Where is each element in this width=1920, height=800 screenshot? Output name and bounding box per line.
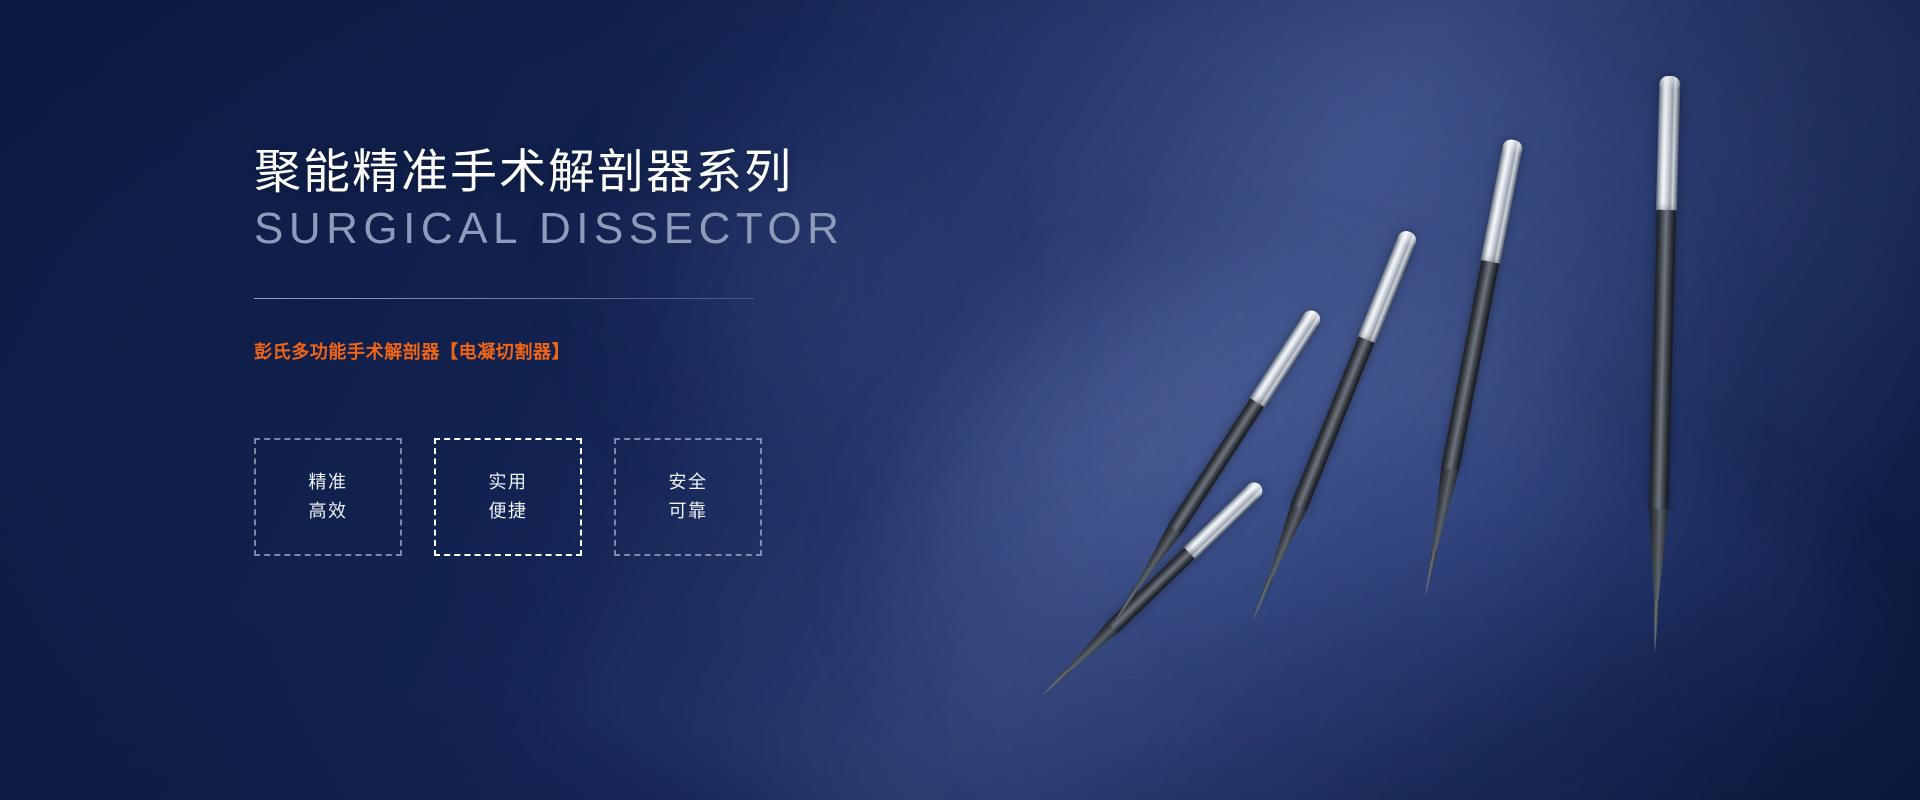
product-name-label: 彭氏多功能手术解剖器【电凝切割器】	[254, 299, 874, 364]
feature-label-line2: 便捷	[489, 497, 528, 526]
hero-banner: 聚能精准手术解剖器系列 SURGICAL DISSECTOR 彭氏多功能手术解剖…	[0, 0, 1920, 800]
feature-box-list: 精准 高效 实用 便捷 安全 可靠	[254, 438, 874, 556]
feature-label-line2: 高效	[309, 497, 348, 526]
feature-box-practical[interactable]: 实用 便捷	[434, 438, 582, 556]
feature-label-line1: 精准	[309, 468, 348, 497]
feature-label-line2: 可靠	[669, 497, 708, 526]
hero-copy-block: 聚能精准手术解剖器系列 SURGICAL DISSECTOR 彭氏多功能手术解剖…	[254, 0, 874, 556]
page-subtitle-english: SURGICAL DISSECTOR	[254, 205, 874, 253]
page-title: 聚能精准手术解剖器系列	[254, 0, 874, 199]
feature-box-precision[interactable]: 精准 高效	[254, 438, 402, 556]
feature-label-line1: 安全	[669, 468, 708, 497]
feature-label-line1: 实用	[489, 468, 528, 497]
feature-box-safety[interactable]: 安全 可靠	[614, 438, 762, 556]
